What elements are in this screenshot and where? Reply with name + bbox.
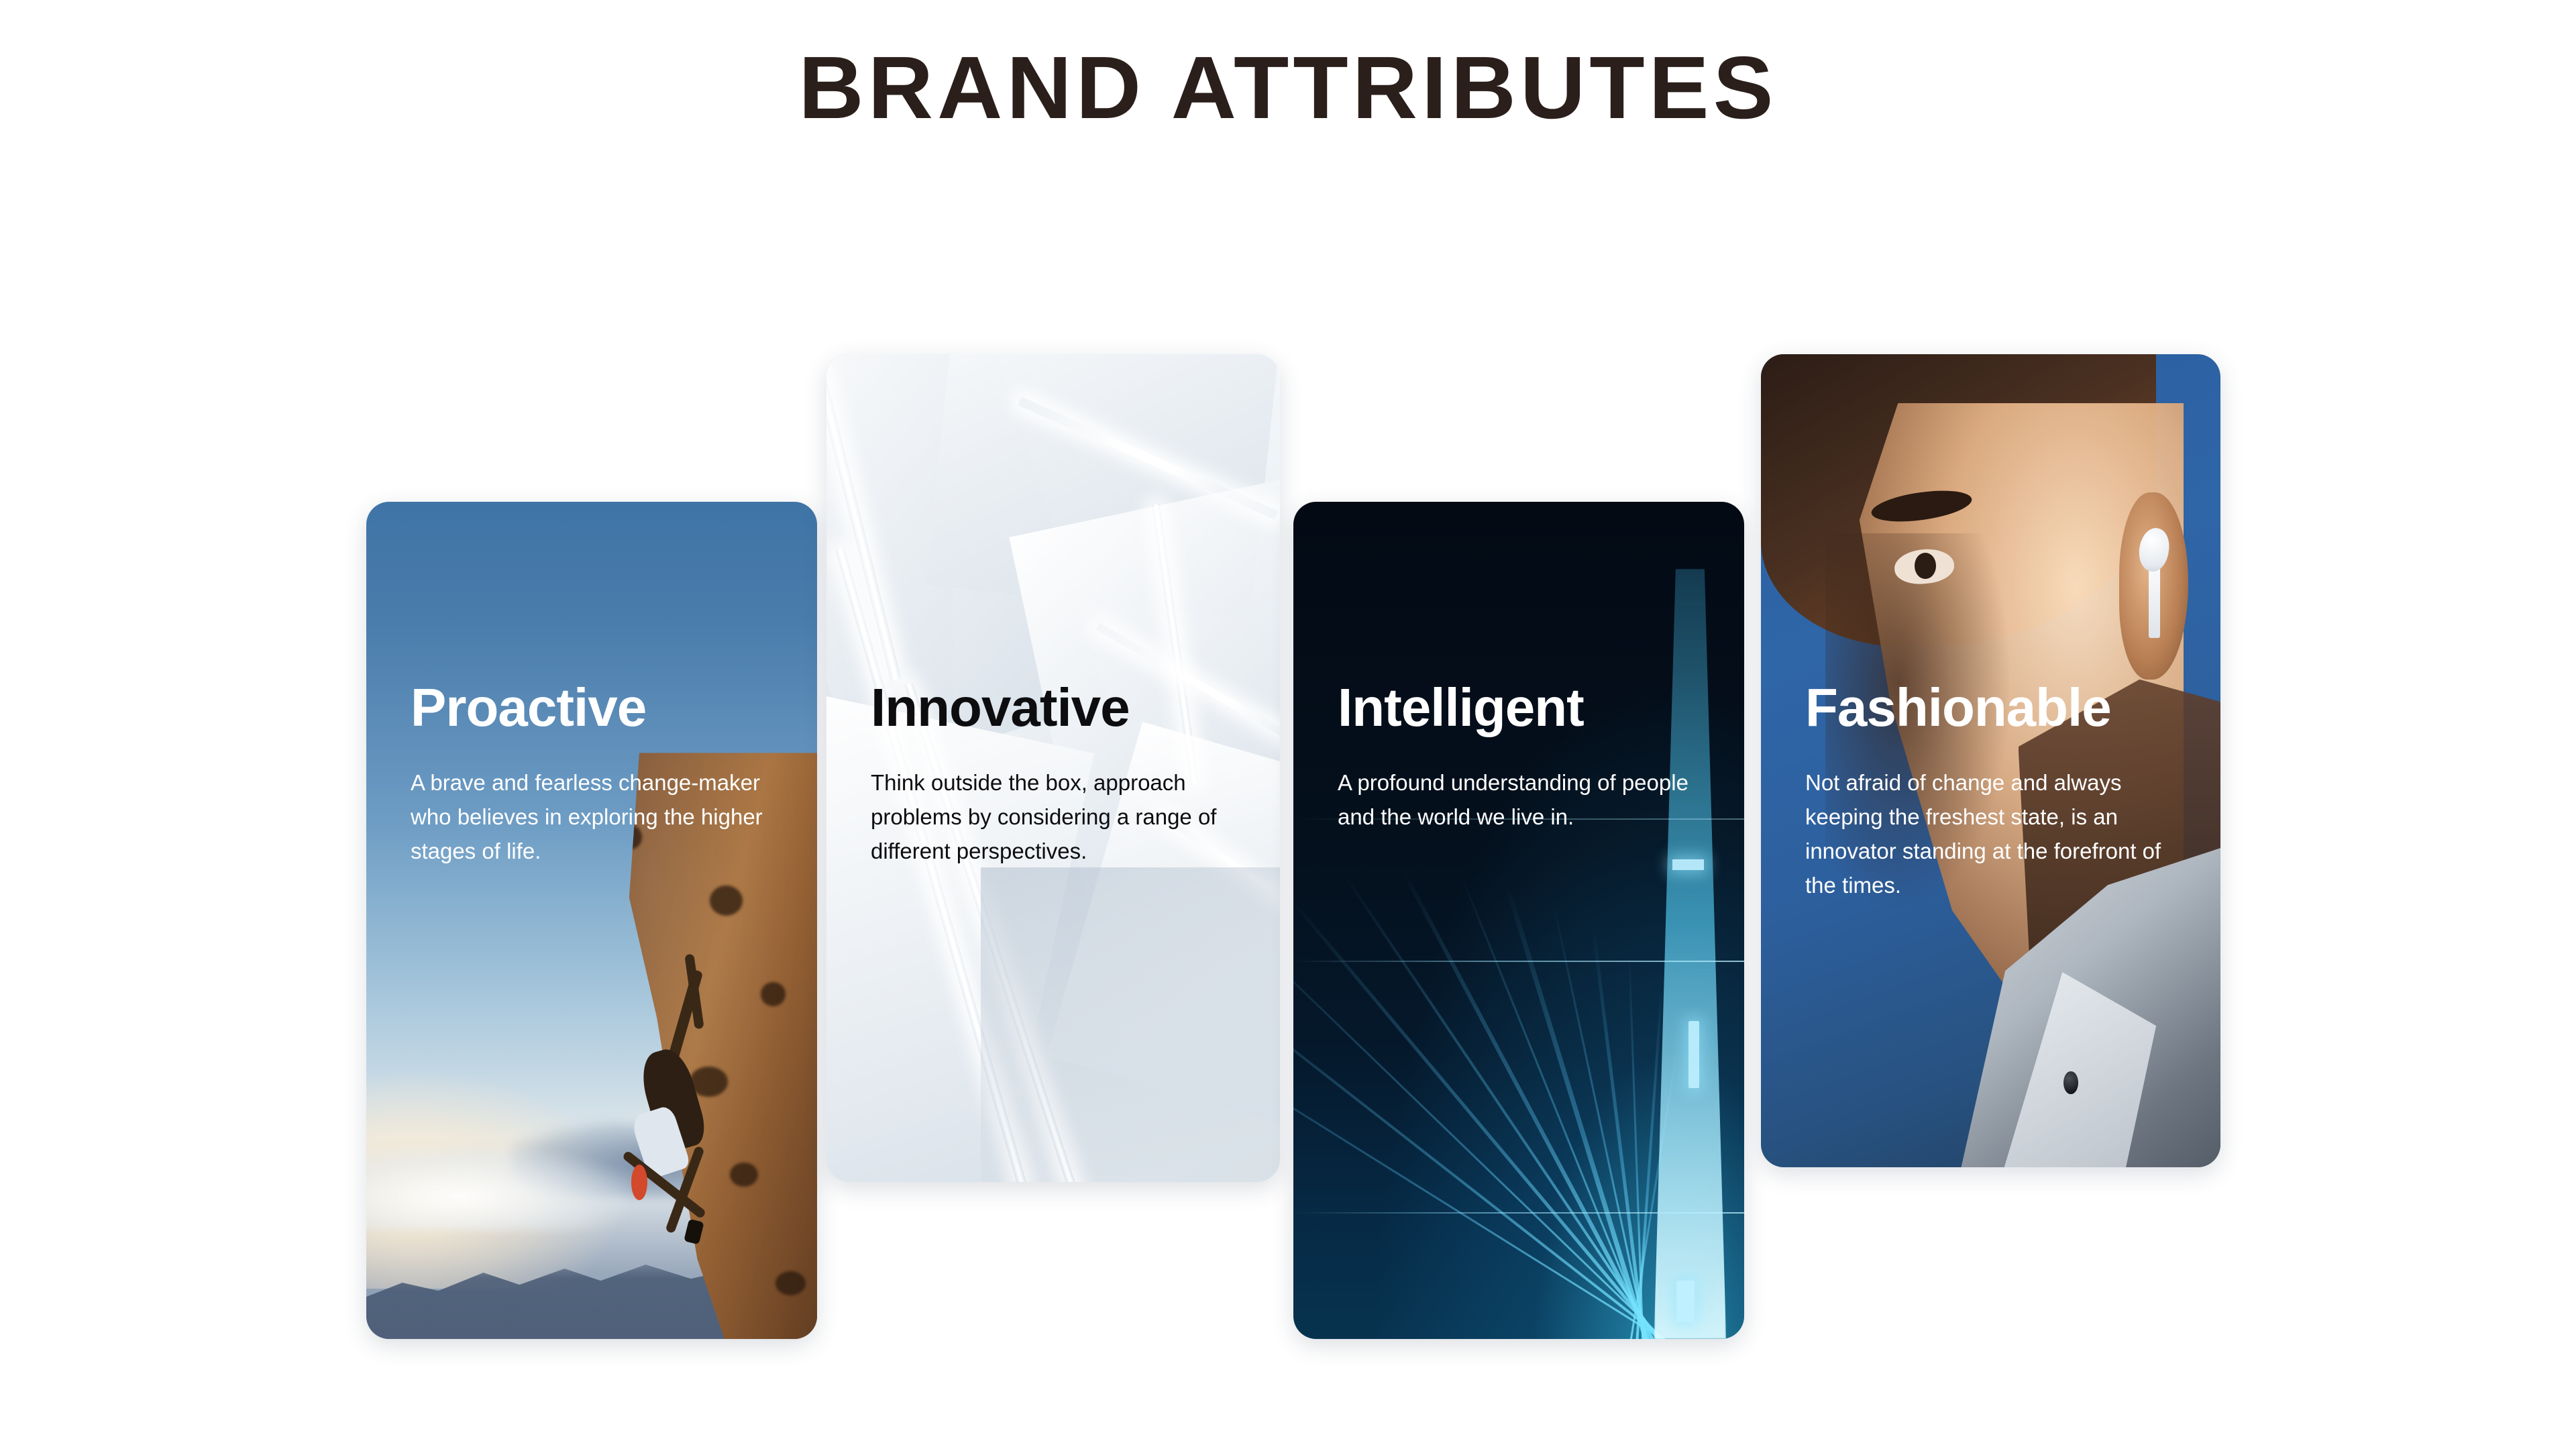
attribute-card-intelligent[interactable]: Intelligent A profound understanding of …	[1293, 502, 1744, 1339]
climber-figure	[637, 954, 731, 1205]
attribute-card-fashionable[interactable]: Fashionable Not afraid of change and alw…	[1761, 354, 2220, 1167]
cloud-shape	[366, 1146, 628, 1230]
horizon-line	[1293, 1212, 1744, 1214]
card-content: Fashionable Not afraid of change and alw…	[1805, 681, 2194, 903]
rock-pit	[710, 885, 743, 916]
light-slab	[1688, 1021, 1699, 1088]
climber-cliff-image	[366, 502, 817, 1339]
card-content: Proactive A brave and fearless change-ma…	[411, 681, 790, 868]
brand-attribute-card-group: Proactive A brave and fearless change-ma…	[0, 0, 2576, 1449]
light-slab	[1676, 1281, 1695, 1322]
rock-pit	[761, 982, 786, 1006]
card-title: Intelligent	[1338, 681, 1717, 735]
light-rays-image	[1293, 502, 1744, 1339]
light-ray	[1313, 830, 1681, 1339]
card-description: Not afraid of change and always keeping …	[1805, 765, 2181, 903]
attribute-card-proactive[interactable]: Proactive A brave and fearless change-ma…	[366, 502, 817, 1339]
card-content: Intelligent A profound understanding of …	[1338, 681, 1717, 834]
shirt-button	[2063, 1071, 2078, 1094]
card-description: A profound understanding of people and t…	[1338, 765, 1713, 834]
horizon-line	[1293, 961, 1744, 962]
card-content: Innovative Think outside the box, approa…	[871, 681, 1253, 868]
tunnel-floor	[981, 867, 1280, 1182]
light-ray	[1293, 928, 1707, 1339]
light-slab	[1672, 859, 1704, 870]
light-ray	[1377, 824, 1672, 1339]
card-description: Think outside the box, approach problems…	[871, 765, 1246, 868]
light-ray	[1293, 883, 1699, 1339]
card-title: Innovative	[871, 681, 1253, 735]
attribute-card-innovative[interactable]: Innovative Think outside the box, approa…	[826, 354, 1280, 1182]
card-title: Proactive	[411, 681, 790, 735]
light-ray	[1293, 981, 1717, 1339]
climber-helmet	[631, 1165, 647, 1199]
card-title: Fashionable	[1805, 681, 2194, 735]
card-description: A brave and fearless change-maker who be…	[411, 765, 786, 868]
rock-pit	[775, 1271, 806, 1295]
rock-pit	[730, 1163, 757, 1187]
iris	[1915, 553, 1936, 579]
